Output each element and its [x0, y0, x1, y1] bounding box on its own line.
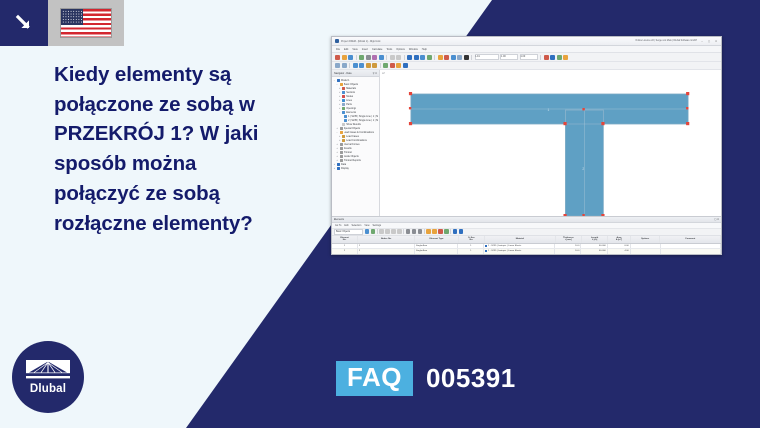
toolbar-icon-print[interactable] [359, 55, 364, 60]
tree-item-label: Special Objects [344, 127, 361, 130]
load-case-field[interactable]: LC1 [475, 54, 499, 60]
table-icon-arrow-left[interactable] [412, 229, 417, 234]
toolbar-icon-surface[interactable] [451, 55, 456, 60]
tree-item-icon [340, 143, 343, 146]
toolbar-icon-cut[interactable] [366, 55, 371, 60]
tree-item-label: Openings [346, 107, 356, 110]
tree-item-label: Materials [346, 87, 356, 90]
tree-expander-icon[interactable]: + [336, 155, 339, 158]
table-cell[interactable]: 1 [458, 249, 484, 254]
app-titlebar: Project RFEM - [Model 1] - Rigid Link On… [332, 37, 721, 46]
table-icon-arrow-right[interactable] [418, 229, 423, 234]
tree-item-label: Printout [344, 151, 352, 154]
menu-calculate[interactable]: Calculate [372, 48, 382, 51]
column-header[interactable]: Comment [660, 236, 721, 243]
column-header[interactable]: Options [631, 236, 661, 243]
table-icon-check[interactable] [444, 229, 449, 234]
menu-insert[interactable]: Insert [362, 48, 368, 51]
toolbar-icon-solid[interactable] [457, 55, 462, 60]
tree-item-label: Parts [346, 103, 352, 106]
table-icon-edit-pencil[interactable] [426, 229, 431, 234]
table-cell[interactable] [631, 244, 661, 249]
tree-item-icon [340, 131, 343, 134]
toolbar2-icon-settings[interactable] [403, 63, 408, 68]
tree-item-label: Guide Objects [344, 155, 359, 158]
table-cell[interactable] [661, 244, 721, 249]
tree-item-label: Basic Objects [344, 83, 359, 86]
arrow-down-right-icon [13, 12, 35, 34]
table-cell[interactable]: 1 - S235 | Isotropic | Linear Elastic [484, 249, 555, 254]
table-cell[interactable]: 60.000 [581, 249, 607, 254]
table-cell[interactable] [631, 249, 661, 254]
navigator-header: Navigator - Data ⚲ ✕ [332, 70, 379, 77]
app-menubar: File Edit View Insert Calculate Tools Op… [332, 46, 721, 53]
tree-item-icon [342, 99, 345, 102]
corner-badges [0, 0, 124, 46]
table-icon-paste-row[interactable] [397, 229, 402, 234]
toolbar2-icon-report[interactable] [396, 63, 401, 68]
tree-item-label: Load Cases [346, 135, 359, 138]
elements-grid[interactable]: ElementNo.Nodes No.Element TypeCr.SecNo.… [332, 236, 721, 256]
table-menu-edit[interactable]: Edit [344, 224, 348, 227]
tree-expander-icon[interactable]: + [333, 163, 336, 166]
tree-expander-icon[interactable]: + [338, 87, 341, 90]
table-cell[interactable]: 10.0 [555, 244, 581, 249]
tree-item-label: Model 1 [341, 79, 350, 82]
table-icon-insert-row[interactable] [379, 229, 384, 234]
tree-item-icon [337, 79, 340, 82]
menu-window[interactable]: Window [409, 48, 418, 51]
toolbar-icon-redo[interactable] [396, 55, 401, 60]
table-icon-wand[interactable] [432, 229, 437, 234]
tree-item-label: Nodes [346, 95, 353, 98]
tree-item-label: Lines [346, 99, 352, 102]
table-cell[interactable]: Single Area [415, 249, 458, 254]
toolbar-icon-new[interactable] [335, 55, 340, 60]
app-logo-icon [335, 39, 339, 43]
toolbar-icon-open[interactable] [342, 55, 347, 60]
table-panel-buttons[interactable]: ▢ ✕ [714, 218, 719, 221]
tree-item-icon [342, 95, 345, 98]
tree-item[interactable]: −Load Cases & Combinations [333, 130, 378, 134]
toolbar-icon-grid[interactable] [407, 55, 412, 60]
tree-expander-icon[interactable]: + [338, 95, 341, 98]
slide-root: Kiedy elementy są połączone ze sobą w PR… [0, 0, 760, 428]
toolbar-icon-paste[interactable] [379, 55, 384, 60]
table-menu-view[interactable]: View [364, 224, 369, 227]
us-flag-icon [60, 8, 112, 38]
language-flag-button[interactable] [48, 0, 124, 46]
table-icon-delete-row[interactable] [385, 229, 390, 234]
tree-item-icon [342, 107, 345, 110]
tree-item-icon [342, 139, 345, 142]
tree-item-label: Display [341, 167, 349, 170]
table-icon-print-table[interactable] [459, 229, 464, 234]
app-toolbar-row-1: LC1 1.00 1.00 [332, 53, 721, 62]
table-menu-goto[interactable]: Go To [335, 224, 341, 227]
tree-expander-icon[interactable]: + [336, 143, 339, 146]
dlubal-wordmark: Dlubal [30, 383, 66, 395]
app-toolbar-row-2 [332, 62, 721, 70]
tree-item-label: Elements [346, 111, 356, 114]
toolbar2-icon-calc[interactable] [383, 63, 388, 68]
tree-item-icon [340, 151, 343, 154]
tree-expander-icon[interactable]: − [333, 79, 336, 82]
menu-view[interactable]: View [352, 48, 357, 51]
table-body[interactable]: 11Single Area11 - S235 | Isotropic | Lin… [332, 244, 721, 256]
table-cell[interactable]: 2 [358, 249, 415, 254]
toolbar2-icon-dim[interactable] [353, 63, 358, 68]
tree-item-icon [342, 87, 345, 90]
table-menu-selection[interactable]: Selection [351, 224, 361, 227]
tree-item-icon [340, 83, 343, 86]
factor-field-1[interactable]: 1.00 [500, 54, 518, 60]
column-header[interactable]: Material [485, 236, 556, 243]
tree-item-icon [344, 115, 347, 118]
tree-expander-icon[interactable]: + [338, 99, 341, 102]
table-cell[interactable]: 1 [358, 244, 415, 249]
column-header[interactable]: Thicknesst [mm] [556, 236, 582, 243]
menu-help[interactable]: Help [422, 48, 427, 51]
arrow-down-right-button[interactable] [0, 0, 48, 46]
model-canvas[interactable]: xZ [380, 70, 721, 216]
toolbar-icon-support[interactable] [464, 55, 469, 60]
page-title: Kiedy elementy są połączone ze sobą w PR… [54, 60, 326, 238]
table-icon-clear[interactable] [438, 229, 443, 234]
tree-item-label: Results [344, 147, 352, 150]
tree-item-icon [342, 135, 345, 138]
toolbar-icon-wireframe[interactable] [427, 55, 432, 60]
menu-options[interactable]: Options [396, 48, 405, 51]
toolbar-icon-node[interactable] [438, 55, 443, 60]
tree-item-icon [337, 167, 340, 170]
tree-item-label: Data [341, 163, 346, 166]
toolbar-icon-rotate[interactable] [563, 55, 568, 60]
app-body: Navigator - Data ⚲ ✕ −Model 1−Basic Obje… [332, 70, 721, 216]
toolbar2-icon-measure[interactable] [342, 63, 347, 68]
table-cell[interactable]: 10.0 [555, 249, 581, 254]
tree-expander-icon[interactable]: − [338, 111, 341, 114]
toolbar2-icon-results[interactable] [390, 63, 395, 68]
navigator-panel: Navigator - Data ⚲ ✕ −Model 1−Basic Obje… [332, 70, 380, 216]
application-screenshot: Project RFEM - [Model 1] - Rigid Link On… [331, 36, 722, 255]
column-header[interactable]: LengthL [m] [582, 236, 608, 243]
table-cell[interactable]: 1 [332, 244, 358, 249]
column-header[interactable]: Cr.SecNo. [459, 236, 485, 243]
table-icon-export[interactable] [453, 229, 458, 234]
column-header[interactable]: Nodes No. [358, 236, 415, 243]
pin-icon[interactable]: ⚲ ✕ [373, 72, 377, 75]
tree-expander-icon[interactable]: − [336, 131, 339, 134]
close-button[interactable]: ✕ [714, 40, 718, 43]
tree-item-label: Load Combinations [346, 139, 367, 142]
tree-item-label: Load Cases & Combinations [344, 131, 374, 134]
faq-tag: FAQ [336, 361, 413, 396]
app-title-text: Project RFEM - [Model 1] - Rigid Link [341, 40, 380, 43]
menu-edit[interactable]: Edit [344, 48, 348, 51]
table-cell[interactable]: 6.00 [608, 244, 631, 249]
faq-number: 005391 [426, 363, 516, 394]
table-panel-title: Elements [334, 218, 344, 221]
tree-item-icon [342, 111, 345, 114]
table-cell[interactable]: 1 [458, 244, 484, 249]
toolbar-icon-undo[interactable] [390, 55, 395, 60]
table-icon-copy-row[interactable] [391, 229, 396, 234]
table-cell[interactable] [661, 249, 721, 254]
tree-expander-icon[interactable]: + [336, 151, 339, 154]
minimize-button[interactable]: – [700, 40, 704, 43]
tree-item-label: 1 | S235 | Single Line | 1 | SECTION [348, 115, 378, 118]
toolbar2-icon-combo[interactable] [372, 63, 377, 68]
tree-item-icon [344, 119, 347, 122]
tree-expander-icon[interactable]: + [333, 167, 336, 170]
table-icon-grid-view[interactable] [406, 229, 411, 234]
dlubal-logo: Dlubal [12, 341, 84, 413]
toolbar-icon-save[interactable] [348, 55, 353, 60]
tree-expander-icon[interactable]: + [336, 159, 339, 162]
toolbar-icon-pan[interactable] [557, 55, 562, 60]
tree-item-label: Internal Forces [344, 143, 360, 146]
toolbar-icon-delete[interactable] [544, 55, 549, 60]
svg-text:2: 2 [582, 167, 584, 171]
tree-item[interactable]: +Display [333, 166, 378, 170]
table-header-row: ElementNo.Nodes No.Element TypeCr.SecNo.… [332, 236, 721, 244]
column-header[interactable]: Element Type [415, 236, 458, 243]
tree-item-icon [340, 147, 343, 150]
navigator-title: Navigator - Data [334, 72, 351, 75]
tree-expander-icon[interactable]: + [336, 147, 339, 150]
toolbar-icon-snap[interactable] [414, 55, 419, 60]
toolbar-icon-line[interactable] [444, 55, 449, 60]
toolbar2-icon-axis[interactable] [359, 63, 364, 68]
tree-item-label: Show Results [346, 123, 361, 126]
tree-item-icon [342, 123, 345, 126]
svg-text:1: 1 [548, 108, 550, 112]
tree-item-label: Sections [346, 91, 355, 94]
basic-objects-dropdown[interactable]: Basic Objects [334, 229, 363, 235]
tree-expander-icon[interactable]: + [338, 103, 341, 106]
tree-item-icon [340, 155, 343, 158]
faq-badge: FAQ 005391 [336, 361, 516, 396]
elements-table-panel: Elements ▢ ✕ Go To Edit Selection View S… [332, 216, 721, 255]
tree-item-icon [337, 163, 340, 166]
tree-item-label: Printout Reports [344, 159, 361, 162]
toolbar2-icon-select[interactable] [335, 63, 340, 68]
table-cell[interactable]: Single Area [415, 244, 458, 249]
table-cell[interactable]: 4.00 [608, 249, 631, 254]
table-icon-filter[interactable] [365, 229, 370, 234]
tree-item-icon [340, 127, 343, 130]
menu-file[interactable]: File [336, 48, 340, 51]
table-cell[interactable]: 1 - S235 | Isotropic | Linear Elastic [484, 244, 555, 249]
toolbar2-icon-load[interactable] [366, 63, 371, 68]
navigator-tree[interactable]: −Model 1−Basic Objects+Materials+Section… [332, 77, 379, 170]
tree-expander-icon[interactable]: − [336, 83, 339, 86]
table-icon-sort[interactable] [371, 229, 376, 234]
bridge-truss-icon [26, 360, 70, 381]
tree-expander-icon[interactable]: + [338, 91, 341, 94]
maximize-button[interactable]: ▢ [707, 40, 711, 43]
tree-item-icon [342, 91, 345, 94]
table-toolbar: Basic Objects [332, 229, 721, 236]
tree-expander-icon[interactable]: + [338, 139, 341, 142]
tree-item-icon [340, 159, 343, 162]
table-cell[interactable]: 60.000 [581, 244, 607, 249]
column-header[interactable]: AreaA [m²] [608, 236, 631, 243]
table-cell[interactable]: 2 [332, 249, 358, 254]
toolbar-icon-zoom[interactable] [550, 55, 555, 60]
tree-item-icon [342, 103, 345, 106]
toolbar-icon-render[interactable] [420, 55, 425, 60]
factor-field-2[interactable]: 1.00 [520, 54, 538, 60]
menu-tools[interactable]: Tools [386, 48, 392, 51]
column-header[interactable]: ElementNo. [332, 236, 358, 243]
tree-expander-icon[interactable]: + [336, 127, 339, 130]
table-menu-settings[interactable]: Settings [372, 224, 381, 227]
license-text: Online Licence 22 | Serge von Miek | Dlu… [635, 40, 697, 42]
tree-expander-icon[interactable]: + [338, 107, 341, 110]
tree-expander-icon[interactable]: + [338, 135, 341, 138]
t-section-model: 1 2 [380, 70, 721, 216]
toolbar-icon-copy[interactable] [372, 55, 377, 60]
tree-item-label: 2 | S235 | Single Line | 1 | SECTION [348, 119, 378, 122]
